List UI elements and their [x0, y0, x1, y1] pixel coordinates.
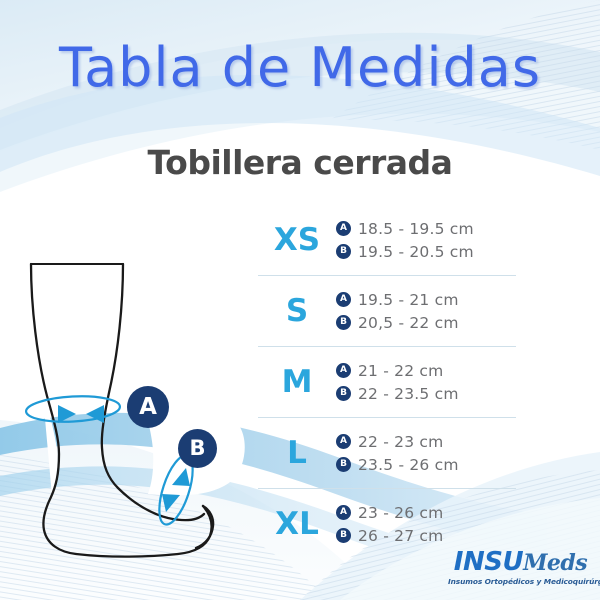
badge-a-icon: A: [336, 363, 351, 378]
page-title: Tabla de Medidas: [0, 36, 600, 99]
measurement-b-value: 20,5 - 22 cm: [358, 314, 459, 332]
measure-arrow-a-right: [86, 405, 104, 423]
measurement-a-value: 18.5 - 19.5 cm: [358, 220, 474, 238]
measure-arrow-b-top: [172, 468, 190, 486]
measurement-line-b: B 20,5 - 22 cm: [336, 314, 516, 332]
illustration-badge-a: A: [127, 386, 169, 428]
measurement-a-value: 19.5 - 21 cm: [358, 291, 459, 309]
size-label: M: [258, 367, 336, 398]
product-subtitle: Tobillera cerrada: [0, 143, 600, 182]
measurement-line-a: A 23 - 26 cm: [336, 504, 516, 522]
illustration-badge-b: B: [178, 429, 217, 468]
badge-a-icon: A: [336, 292, 351, 307]
measurement-b-value: 19.5 - 20.5 cm: [358, 243, 474, 261]
size-table: XS A 18.5 - 19.5 cm B 19.5 - 20.5 cm S A…: [258, 205, 516, 559]
measure-arrow-b-bottom: [162, 494, 180, 512]
badge-a-icon: A: [336, 505, 351, 520]
size-label: L: [258, 438, 336, 469]
badge-b-icon: B: [336, 528, 351, 543]
logo-insu: INSU: [454, 547, 523, 577]
measurement-group: A 21 - 22 cm B 22 - 23.5 cm: [336, 362, 516, 403]
measurement-a-value: 22 - 23 cm: [358, 433, 443, 451]
badge-b-icon: B: [336, 315, 351, 330]
measure-ring-a: [25, 394, 120, 424]
measurement-line-a: A 21 - 22 cm: [336, 362, 516, 380]
measurement-group: A 19.5 - 21 cm B 20,5 - 22 cm: [336, 291, 516, 332]
badge-a-icon: A: [336, 221, 351, 236]
size-label: S: [258, 296, 336, 327]
table-row: XS A 18.5 - 19.5 cm B 19.5 - 20.5 cm: [258, 205, 516, 276]
table-row: M A 21 - 22 cm B 22 - 23.5 cm: [258, 347, 516, 418]
measurement-line-b: B 26 - 27 cm: [336, 527, 516, 545]
measurement-group: A 22 - 23 cm B 23.5 - 26 cm: [336, 433, 516, 474]
measurement-line-b: B 22 - 23.5 cm: [336, 385, 516, 403]
measurement-line-b: B 23.5 - 26 cm: [336, 456, 516, 474]
measurement-b-value: 23.5 - 26 cm: [358, 456, 459, 474]
measurement-a-value: 23 - 26 cm: [358, 504, 443, 522]
size-label: XL: [258, 509, 336, 540]
measurement-b-value: 26 - 27 cm: [358, 527, 443, 545]
badge-b-icon: B: [336, 386, 351, 401]
measurement-chart-infographic: Tabla de Medidas Tobillera cerrada A B X…: [0, 0, 600, 600]
table-row: L A 22 - 23 cm B 23.5 - 26 cm: [258, 418, 516, 489]
measurement-group: A 18.5 - 19.5 cm B 19.5 - 20.5 cm: [336, 220, 516, 261]
size-label: XS: [258, 225, 336, 256]
measure-arrow-a-left: [58, 405, 76, 423]
logo-meds: Meds: [523, 550, 587, 576]
measurement-line-b: B 19.5 - 20.5 cm: [336, 243, 516, 261]
measurement-line-a: A 22 - 23 cm: [336, 433, 516, 451]
measurement-a-value: 21 - 22 cm: [358, 362, 443, 380]
badge-b-icon: B: [336, 457, 351, 472]
table-row: S A 19.5 - 21 cm B 20,5 - 22 cm: [258, 276, 516, 347]
measurement-b-value: 22 - 23.5 cm: [358, 385, 459, 403]
measurement-line-a: A 18.5 - 19.5 cm: [336, 220, 516, 238]
logo-tagline: Insumos Ortopédicos y Medicoquirúrgicos: [448, 577, 593, 586]
brand-logo: INSUMeds Insumos Ortopédicos y Medicoqui…: [448, 549, 593, 586]
badge-a-icon: A: [336, 434, 351, 449]
measurement-group: A 23 - 26 cm B 26 - 27 cm: [336, 504, 516, 545]
badge-b-icon: B: [336, 244, 351, 259]
logo-wordmark: INSUMeds: [448, 549, 593, 575]
measurement-line-a: A 19.5 - 21 cm: [336, 291, 516, 309]
